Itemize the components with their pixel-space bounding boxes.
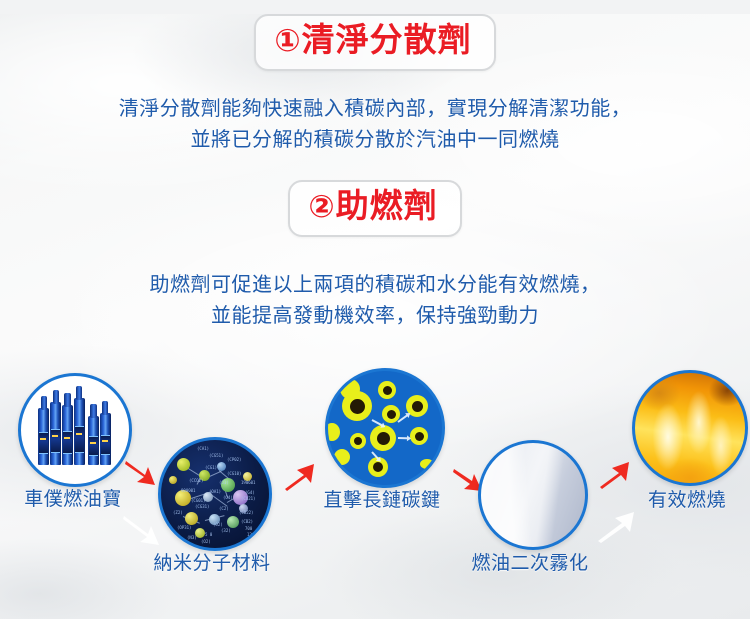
molecule-code: (O2)	[201, 539, 211, 544]
section-2-paragraph-line-2: 並能提高發動機效率，保持強勁動力	[0, 301, 750, 332]
fuel-additive-bottles-icon	[18, 373, 132, 487]
process-flow-diagram: 車僕燃油寶	[0, 362, 750, 619]
molecule-code: 700	[245, 526, 252, 531]
flame-icon	[632, 370, 748, 486]
molecule-code: (CP02)	[227, 457, 241, 462]
molecule-code: (OP31)	[177, 525, 191, 530]
fuel-mist-icon	[478, 440, 588, 550]
molecule-code: (O1)	[219, 480, 229, 485]
section-2-badge-text: ②助燃劑	[308, 185, 437, 228]
section-1-badge-number: ①	[274, 23, 301, 58]
section-2-paragraph: 助燃劑可促進以上兩項的積碳和水分能有效燃燒， 並能提高發動機效率，保持強勁動力	[0, 270, 750, 332]
section-2-badge: ②助燃劑	[288, 180, 461, 237]
molecule-code: (C2)	[219, 506, 229, 511]
flow-step-4-label: 燃油二次霧化	[456, 552, 604, 576]
section-1-badge-label: 清淨分散劑	[302, 21, 472, 58]
carbon-chain-cells-icon	[325, 368, 445, 488]
molecule-code: (G4)	[245, 490, 255, 495]
section-1-badge: ①清淨分散劑	[254, 14, 495, 71]
molecule-code: (CD22)	[239, 510, 253, 515]
section-1-paragraph-line-2: 並將已分解的積碳分散於汽油中一同燃燒	[0, 125, 750, 156]
page-root: ①清淨分散劑 清淨分散劑能夠快速融入積碳內部，實現分解清潔功能， 並將已分解的積…	[0, 14, 750, 619]
molecule-code: (OA1)	[209, 489, 221, 494]
molecule-code: (CA1)	[197, 446, 209, 451]
molecule-code: (Z2)	[173, 510, 183, 515]
molecule-code: 900001	[181, 488, 195, 493]
molecule-code: (CG51)	[209, 453, 223, 458]
section-1-paragraph: 清淨分散劑能夠快速融入積碳內部，實現分解清潔功能， 並將已分解的積碳分散於汽油中…	[0, 94, 750, 156]
molecule-code: (CG31)	[195, 504, 209, 509]
flow-step-1-label: 車僕燃油寶	[0, 488, 146, 512]
section-2-paragraph-line-1: 助燃劑可促進以上兩項的積碳和水分能有效燃燒，	[0, 270, 750, 301]
molecule-code: (CCO2)	[189, 478, 203, 483]
white-arrow-down-right-icon	[122, 514, 162, 553]
flow-step-2-label: 納米分子材料	[138, 552, 286, 576]
flow-step-3-label: 直擊長鏈碳鍵	[308, 489, 456, 513]
white-arrow-up-right-icon	[596, 510, 636, 549]
flow-step-5-label: 有效燃燒	[613, 489, 750, 513]
molecule-code: (CG10)	[227, 471, 241, 476]
nano-molecule-model-icon: (CA1) (CG51) (CP02) (CG1) (CG10) (CCO2) …	[158, 437, 272, 551]
molecule-code: (CB2)	[241, 519, 253, 524]
bottles-group	[21, 376, 129, 484]
section-2-badge-label: 助燃劑	[336, 187, 438, 224]
molecule-code: 12 12 0 0 3	[247, 532, 272, 537]
molecule-code: (CG1)	[205, 465, 217, 470]
molecule-code: 5 0	[205, 532, 212, 537]
molecule-code: (O4)	[223, 495, 233, 500]
molecule-code: 190601	[241, 480, 255, 485]
molecule-code: (CG01)	[191, 498, 205, 503]
section-2-badge-row: ②助燃劑	[0, 180, 750, 237]
molecule-code: (CO21)	[241, 496, 255, 501]
section-1-badge-text: ①清淨分散劑	[274, 19, 471, 62]
molecule-code: (N3)	[187, 535, 197, 540]
molecule-code: (32)	[221, 528, 231, 533]
section-2-badge-number: ②	[308, 189, 335, 224]
section-1-paragraph-line-1: 清淨分散劑能夠快速融入積碳內部，實現分解清潔功能，	[0, 94, 750, 125]
molecule-code: (O2)	[213, 522, 223, 527]
section-1-badge-row: ①清淨分散劑	[0, 14, 750, 71]
